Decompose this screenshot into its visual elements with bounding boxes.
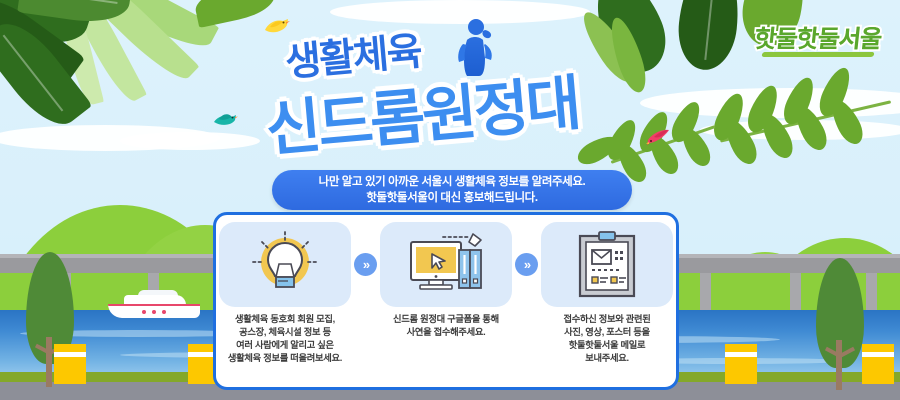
steps-panel: 생활체육 동호회 회원 모집, 공스장, 체육시설 정보 등 여러 사람에게 알… [213, 212, 679, 390]
step-arrow-1: » [354, 253, 377, 276]
step-text-line: 사연을 접수해주세요. [393, 326, 499, 339]
step-card-text: 신드롬 원정대 구글폼을 통해 사연을 접수해주세요. [393, 313, 499, 339]
clipboard-mail-icon [574, 230, 640, 300]
step-card-1: 생활체육 동호회 회원 모집, 공스장, 체육시설 정보 등 여러 사람에게 알… [216, 222, 354, 365]
step-text-line: 핫둘핫둘서울 메일로 [563, 339, 650, 352]
title-block: 생활체육 신드롬원정대 [255, 18, 655, 158]
cruise-boat-icon [108, 290, 200, 316]
lightbulb-icon [247, 230, 323, 300]
step-text-line: 생활체육 정보를 떠올려보세요. [228, 352, 342, 365]
yellow-box [54, 344, 86, 384]
step-text-line: 여러 사람에게 알리고 싶은 [228, 339, 342, 352]
subtitle-line2: 핫둘핫둘서울이 대신 홍보해드립니다. [366, 190, 537, 206]
step-text-line: 사진, 영상, 포스터 등을 [563, 326, 650, 339]
step-text-line: 공스장, 체육시설 정보 등 [228, 326, 342, 339]
step-card-text: 접수하신 정보와 관련된 사진, 영상, 포스터 등을 핫둘핫둘서울 메일로 보… [563, 313, 650, 365]
step-text-line: 신드롬 원정대 구글폼을 통해 [393, 313, 499, 326]
step-icon-container [380, 222, 512, 307]
step-text-line: 생활체육 동호회 회원 모집, [228, 313, 342, 326]
bridge-pier [790, 273, 801, 315]
tree [812, 258, 868, 388]
step-arrow-2: » [515, 253, 538, 276]
monitor-form-icon [405, 232, 487, 298]
yellow-box [725, 344, 757, 384]
step-card-3: 접수하신 정보와 관련된 사진, 영상, 포스터 등을 핫둘핫둘서울 메일로 보… [538, 222, 676, 365]
step-text-line: 보내주세요. [563, 352, 650, 365]
subtitle-line1: 나만 알고 있기 아까운 서울시 생활체육 정보를 알려주세요. [319, 174, 586, 190]
leaf [674, 0, 743, 73]
site-logo[interactable]: 핫둘핫둘서울 핫둘핫둘서울 [752, 14, 884, 58]
yellow-box-band [54, 352, 86, 357]
step-icon-container [219, 222, 351, 307]
logo-text: 핫둘핫둘서울 [750, 14, 887, 58]
step-icon-container [541, 222, 673, 307]
step-text-line: 접수하신 정보와 관련된 [563, 313, 650, 326]
yellow-box-band [725, 352, 757, 357]
yellow-box-band [862, 352, 894, 357]
step-card-2: 신드롬 원정대 구글폼을 통해 사연을 접수해주세요. [377, 222, 515, 339]
step-card-text: 생활체육 동호회 회원 모집, 공스장, 체육시설 정보 등 여러 사람에게 알… [228, 313, 342, 365]
subtitle-banner: 나만 알고 있기 아까운 서울시 생활체육 정보를 알려주세요. 핫둘핫둘서울이… [272, 170, 632, 210]
promo-banner: 핫둘핫둘서울 핫둘핫둘서울 생활체육 신드롬원정대 나만 알고 있기 아까운 서… [0, 0, 900, 400]
teal-bird-icon [212, 110, 238, 130]
cloud [120, 132, 260, 150]
bridge-pier [700, 273, 711, 315]
yellow-box [862, 344, 894, 384]
